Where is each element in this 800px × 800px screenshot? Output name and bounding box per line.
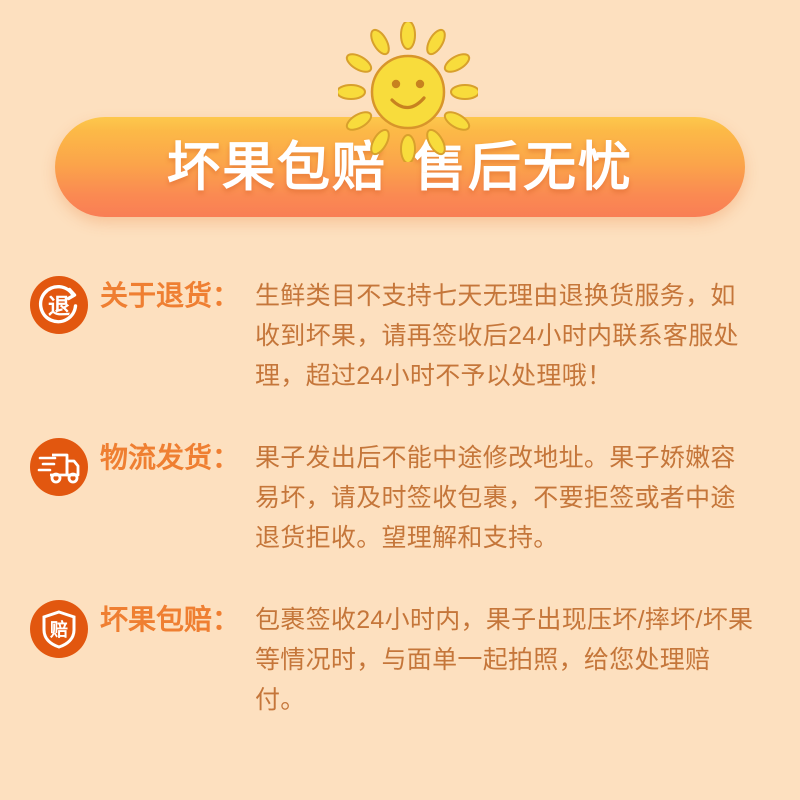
smiling-sun-icon	[338, 22, 478, 162]
policy-sections: 退 关于退货： 生鲜类目不支持七天无理由退换货服务，如收到坏果，请再签收后24小…	[0, 262, 800, 748]
section-logistics-body: 物流发货： 果子发出后不能中途修改地址。果子娇嫩容易坏，请及时签收包裹，不要拒签…	[88, 424, 755, 558]
section-guarantee: 赔 坏果包赔： 包裹签收24小时内，果子出现压坏/摔坏/坏果等情况时，与面单一起…	[0, 586, 800, 720]
section-returns-body: 关于退货： 生鲜类目不支持七天无理由退换货服务，如收到坏果，请再签收后24小时内…	[88, 262, 755, 396]
section-guarantee-heading: 坏果包赔：	[88, 600, 255, 640]
section-returns-heading: 关于退货：	[88, 276, 255, 316]
svg-text:赔: 赔	[50, 619, 68, 640]
delivery-truck-icon	[30, 438, 88, 496]
section-logistics-heading: 物流发货：	[88, 438, 255, 478]
section-guarantee-text: 包裹签收24小时内，果子出现压坏/摔坏/坏果等情况时，与面单一起拍照，给您处理赔…	[255, 600, 755, 720]
shield-guarantee-icon: 赔	[30, 600, 88, 658]
header-banner-area: 坏果包赔 售后无忧	[0, 0, 800, 250]
section-returns-text: 生鲜类目不支持七天无理由退换货服务，如收到坏果，请再签收后24小时内联系客服处理…	[255, 276, 755, 396]
section-guarantee-body: 坏果包赔： 包裹签收24小时内，果子出现压坏/摔坏/坏果等情况时，与面单一起拍照…	[88, 586, 755, 720]
svg-text:退: 退	[48, 294, 70, 319]
section-logistics: 物流发货： 果子发出后不能中途修改地址。果子娇嫩容易坏，请及时签收包裹，不要拒签…	[0, 424, 800, 558]
section-returns: 退 关于退货： 生鲜类目不支持七天无理由退换货服务，如收到坏果，请再签收后24小…	[0, 262, 800, 396]
return-arrow-icon: 退	[30, 276, 88, 334]
section-logistics-text: 果子发出后不能中途修改地址。果子娇嫩容易坏，请及时签收包裹，不要拒签或者中途退货…	[255, 438, 755, 558]
